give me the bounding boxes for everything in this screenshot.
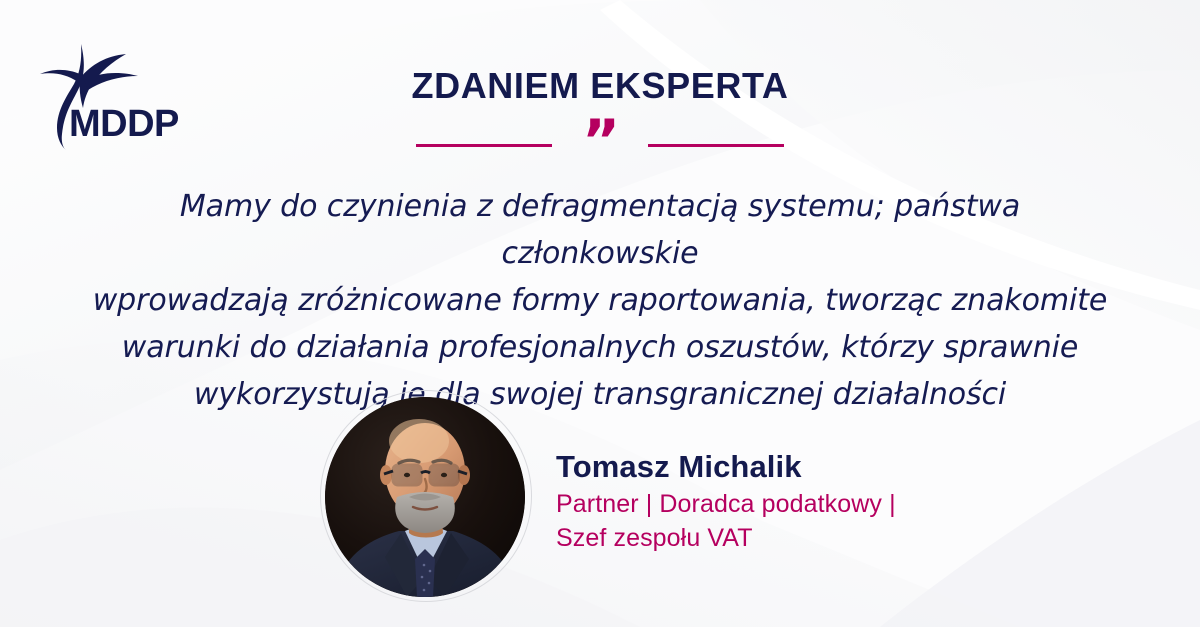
portrait-container <box>312 386 538 608</box>
divider-rule-right <box>648 144 784 147</box>
quote-text: Mamy do czynienia z defragmentacją syste… <box>80 183 1120 418</box>
page-title: ZDANIEM EKSPERTA <box>0 64 1200 108</box>
avatar <box>325 397 525 597</box>
quote-line: Mamy do czynienia z defragmentacją syste… <box>80 183 1120 277</box>
person-details: Tomasz Michalik Partner | Doradca podatk… <box>556 447 1116 555</box>
quote-divider: ” <box>0 124 1200 166</box>
divider-rule-left <box>416 144 552 147</box>
quote-line: wykorzystują je dla swojej transgraniczn… <box>80 371 1120 418</box>
quotation-mark-icon: ” <box>552 122 648 160</box>
person-role-line-1: Partner | Doradca podatkowy | <box>556 487 1116 521</box>
quote-line: wprowadzają zróżnicowane formy raportowa… <box>80 277 1120 324</box>
person-role-line-2: Szef zespołu VAT <box>556 521 1116 555</box>
expert-quote-card: MDDP ZDANIEM EKSPERTA ” Mamy do czynieni… <box>0 0 1200 627</box>
quote-line: warunki do działania profesjonalnych osz… <box>80 324 1120 371</box>
person-name: Tomasz Michalik <box>556 447 1116 487</box>
